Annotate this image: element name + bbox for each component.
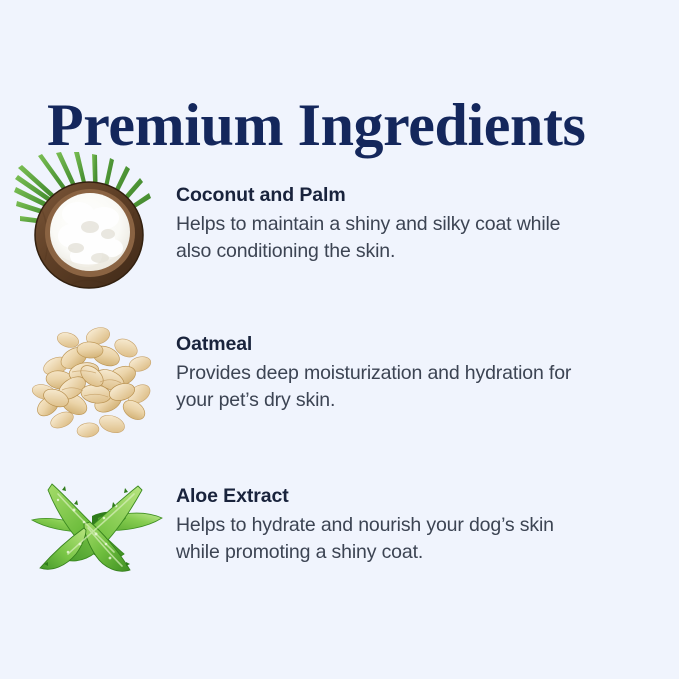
ingredient-text-block: Aloe Extract Helps to hydrate and nouris… — [176, 484, 646, 566]
ingredient-name: Coconut and Palm — [176, 183, 646, 208]
ingredient-name: Oatmeal — [176, 332, 646, 357]
ingredient-description: Provides deep moisturization and hydrati… — [176, 360, 596, 414]
oatmeal-icon — [22, 314, 162, 439]
ingredient-list: Coconut and Palm Helps to maintain a shi… — [0, 150, 679, 610]
ingredient-item-aloe-extract: Aloe Extract Helps to hydrate and nouris… — [0, 450, 679, 600]
ingredient-text-block: Oatmeal Provides deep moisturization and… — [176, 332, 646, 414]
ingredient-name: Aloe Extract — [176, 484, 646, 509]
premium-ingredients-page: Premium Ingredients — [0, 0, 679, 679]
aloe-leaf-group — [32, 484, 162, 571]
oat-flake-cluster — [31, 325, 154, 439]
ingredient-item-coconut-and-palm: Coconut and Palm Helps to maintain a shi… — [0, 150, 679, 300]
ingredient-item-oatmeal: Oatmeal Provides deep moisturization and… — [0, 300, 679, 450]
ingredient-description: Helps to maintain a shiny and silky coat… — [176, 211, 596, 265]
aloe-vera-icon — [18, 470, 168, 580]
ingredient-text-block: Coconut and Palm Helps to maintain a shi… — [176, 183, 646, 265]
ingredient-description: Helps to hydrate and nourish your dog’s … — [176, 512, 596, 566]
coconut-and-palm-icon — [12, 152, 167, 297]
page-title: Premium Ingredients — [47, 92, 586, 158]
